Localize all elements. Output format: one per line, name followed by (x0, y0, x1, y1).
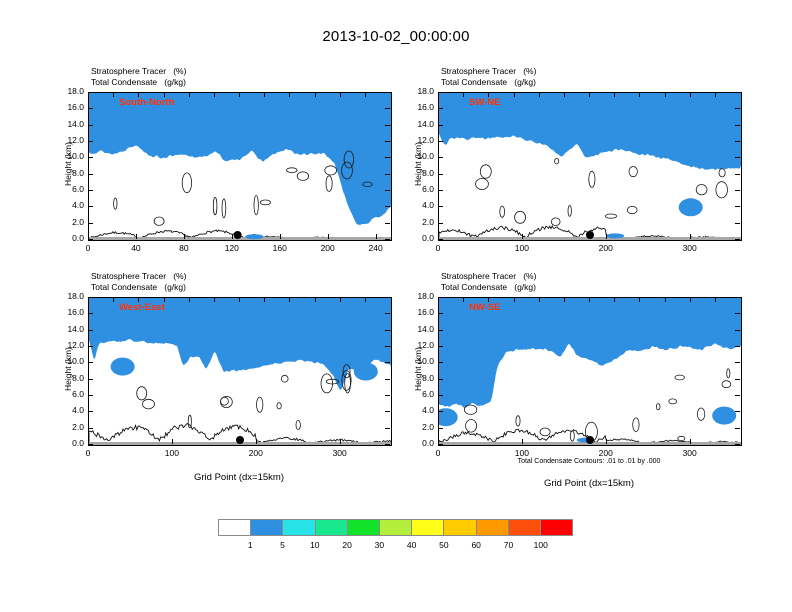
x-tick-label: 0 (68, 448, 108, 458)
y-tick-label: 4.0 (54, 405, 84, 415)
tracer-band (439, 93, 741, 164)
y-tick-label: 10.0 (404, 356, 434, 366)
y-tick-mark (88, 141, 93, 142)
y-tick-mark (438, 346, 443, 347)
y-tick-mark (735, 141, 740, 142)
panel-label-sw-ne: SW-NE (469, 97, 500, 108)
x-tick-mark-top (164, 297, 165, 302)
y-tick-mark (88, 313, 93, 314)
x-tick-mark (172, 439, 173, 444)
tracer-band (89, 298, 391, 378)
tracer-field (439, 298, 741, 445)
x-tick-mark-top (289, 297, 290, 302)
condensate-contour (627, 206, 637, 213)
y-tick-label: 2.0 (54, 422, 84, 432)
condensate-contour (551, 218, 560, 226)
condensate-contour (287, 168, 297, 173)
condensate-contour (182, 173, 191, 193)
x-tick-label: 100 (502, 448, 542, 458)
x-tick-label: 0 (68, 243, 108, 253)
y-tick-label: 16.0 (404, 307, 434, 317)
y-tick-mark (385, 346, 390, 347)
y-tick-mark (88, 395, 93, 396)
cloud-patch (111, 358, 135, 376)
tracer-band (439, 298, 741, 393)
condensate-contour (296, 420, 300, 429)
condensate-contour (605, 214, 616, 218)
condensate-contour (188, 415, 191, 428)
y-tick-mark (735, 346, 740, 347)
y-tick-label: 2.0 (54, 217, 84, 227)
y-tick-label: 10.0 (54, 151, 84, 161)
y-tick-mark (385, 108, 390, 109)
y-tick-label: 8.0 (404, 373, 434, 383)
colorbar-tick-label: 70 (493, 540, 523, 550)
y-tick-mark (438, 362, 443, 363)
x-tick-label: 300 (670, 243, 710, 253)
y-tick-mark (385, 313, 390, 314)
tracer-field (89, 93, 391, 240)
condensate-contour (476, 179, 489, 190)
y-axis-label: Height (km) (63, 319, 73, 419)
center-marker (236, 436, 244, 444)
y-tick-label: 2.0 (404, 422, 434, 432)
y-tick-mark (735, 313, 740, 314)
terrain-profile (439, 226, 741, 240)
x-tick-mark (522, 439, 523, 444)
condensate-contour (326, 379, 338, 384)
tracer-band (89, 93, 391, 215)
x-tick-mark-top (564, 297, 565, 302)
y-tick-mark (385, 206, 390, 207)
panel-header-line2: Total Condensate (g/kg) (91, 282, 186, 293)
condensate-contour (257, 397, 263, 412)
y-tick-mark (438, 190, 443, 191)
condensate-contour (697, 408, 704, 420)
ground-bar (89, 237, 391, 240)
x-tick-mark-top (614, 92, 615, 97)
colorbar-segment (251, 520, 283, 535)
contour-caption: Total Condensate Contours: .01 to .01 by… (438, 458, 740, 465)
tracer-band (89, 298, 391, 369)
colorbar-segment (283, 520, 315, 535)
x-tick-mark-top (488, 92, 489, 97)
condensate-contour (321, 374, 333, 393)
x-tick-mark-top (214, 92, 215, 97)
cloud-patch (679, 198, 703, 216)
tracer-field (439, 93, 741, 240)
x-tick-mark-top (715, 297, 716, 302)
y-tick-label: 6.0 (54, 184, 84, 194)
tracer-field (89, 298, 391, 445)
tracer-band (439, 298, 741, 395)
condensate-contour (297, 172, 308, 181)
condensate-contour (325, 166, 337, 175)
terrain-profile (89, 230, 391, 240)
y-tick-mark (88, 297, 93, 298)
center-marker (586, 231, 594, 239)
colorbar-segment (348, 520, 380, 535)
condensate-contour (633, 418, 639, 432)
condensate-contour (656, 404, 660, 410)
x-tick-mark-top (715, 92, 716, 97)
y-tick-label: 16.0 (404, 102, 434, 112)
panel-header-line2: Total Condensate (g/kg) (441, 282, 536, 293)
panel-header-line1: Stratosphere Tracer (%) (441, 66, 536, 77)
condensate-contour (221, 396, 233, 407)
y-tick-mark (735, 395, 740, 396)
y-tick-mark (438, 428, 443, 429)
y-tick-mark (88, 330, 93, 331)
condensate-contour (515, 211, 526, 223)
x-tick-mark (438, 439, 439, 444)
y-tick-mark (438, 157, 443, 158)
tracer-band (89, 93, 391, 204)
y-tick-mark (385, 239, 390, 240)
x-tick-label: 80 (164, 243, 204, 253)
y-tick-label: 18.0 (54, 86, 84, 96)
y-tick-mark (438, 411, 443, 412)
y-tick-mark (735, 330, 740, 331)
tracer-band (439, 298, 741, 402)
condensate-contour (222, 199, 226, 218)
x-tick-mark-top (189, 297, 190, 302)
tracer-band (439, 93, 741, 155)
tracer-band (89, 298, 391, 388)
y-tick-mark (438, 92, 443, 93)
cloud-patch (712, 407, 736, 425)
x-tick-mark (522, 234, 523, 239)
condensate-contour (342, 162, 353, 179)
condensate-contour (326, 176, 332, 192)
panel-header: Stratosphere Tracer (%)Total Condensate … (441, 66, 536, 87)
condensate-contour (363, 182, 372, 187)
x-tick-mark-top (488, 297, 489, 302)
x-tick-mark-top (514, 92, 515, 97)
x-tick-mark-top (264, 297, 265, 302)
x-tick-mark-top (138, 297, 139, 302)
x-tick-mark (136, 234, 137, 239)
colorbar-segment (541, 520, 572, 535)
y-tick-mark (735, 206, 740, 207)
x-tick-label: 120 (212, 243, 252, 253)
x-tick-mark-top (214, 297, 215, 302)
x-tick-mark (280, 234, 281, 239)
panel-label-south-north: South-North (119, 97, 174, 108)
y-tick-label: 6.0 (404, 389, 434, 399)
x-tick-mark-top (315, 92, 316, 97)
condensate-contour (342, 371, 351, 391)
y-tick-mark (438, 239, 443, 240)
x-axis-label: Grid Point (dx=15km) (88, 472, 390, 483)
x-tick-mark-top (463, 92, 464, 97)
colorbar-tick-label: 30 (364, 540, 394, 550)
x-tick-label: 200 (586, 243, 626, 253)
tracer-band (439, 93, 741, 153)
colorbar-segment (380, 520, 412, 535)
y-tick-label: 14.0 (404, 119, 434, 129)
panel-header-line1: Stratosphere Tracer (%) (91, 271, 186, 282)
condensate-contour (344, 151, 354, 168)
tracer-band (439, 298, 741, 405)
x-tick-mark (438, 234, 439, 239)
y-tick-mark (385, 223, 390, 224)
y-tick-label: 2.0 (404, 217, 434, 227)
x-tick-label: 160 (260, 243, 300, 253)
y-tick-mark (88, 190, 93, 191)
condensate-contour (540, 428, 550, 436)
y-tick-mark (438, 174, 443, 175)
y-tick-mark (438, 379, 443, 380)
y-tick-label: 0.0 (54, 233, 84, 243)
tracer-band (439, 93, 741, 162)
condensate-contour (464, 405, 476, 414)
y-tick-label: 6.0 (54, 389, 84, 399)
y-tick-mark (88, 174, 93, 175)
condensate-contour (555, 158, 559, 164)
x-tick-mark (606, 439, 607, 444)
x-tick-label: 300 (320, 448, 360, 458)
x-tick-mark (184, 234, 185, 239)
condensate-contour (585, 422, 597, 441)
y-tick-mark (88, 428, 93, 429)
terrain-profile (89, 424, 391, 445)
tracer-band (439, 93, 741, 157)
tracer-band (89, 93, 391, 219)
cloud-patch (353, 202, 377, 220)
y-tick-label: 6.0 (404, 184, 434, 194)
condensate-contour (675, 375, 685, 380)
y-tick-mark (735, 108, 740, 109)
y-tick-mark (385, 157, 390, 158)
y-tick-mark (735, 379, 740, 380)
x-tick-mark-top (340, 297, 341, 302)
colorbar-segment (444, 520, 476, 535)
y-tick-mark (438, 395, 443, 396)
colorbar-tick-label: 5 (268, 540, 298, 550)
tracer-band (439, 298, 741, 391)
colorbar-segment (219, 520, 251, 535)
x-tick-mark (690, 439, 691, 444)
y-tick-label: 16.0 (54, 307, 84, 317)
x-tick-mark-top (665, 297, 666, 302)
x-tick-label: 0 (418, 448, 458, 458)
tracer-band (439, 298, 741, 404)
tracer-band (89, 298, 391, 373)
y-tick-mark (385, 92, 390, 93)
tracer-band (439, 93, 741, 160)
y-tick-label: 10.0 (404, 151, 434, 161)
tracer-band (439, 93, 741, 166)
condensate-contour (629, 167, 637, 177)
x-tick-mark (690, 234, 691, 239)
x-tick-mark (606, 234, 607, 239)
x-tick-mark-top (690, 297, 691, 302)
condensate-contour (114, 198, 117, 209)
tracer-band (89, 298, 391, 386)
x-tick-mark (256, 439, 257, 444)
x-tick-label: 200 (236, 448, 276, 458)
y-tick-mark (88, 362, 93, 363)
condensate-contour (500, 206, 505, 217)
condensate-contour (568, 205, 571, 216)
condensate-contour (727, 369, 730, 378)
page-title: 2013-10-02_00:00:00 (0, 28, 792, 45)
y-tick-mark (438, 313, 443, 314)
y-tick-mark (735, 223, 740, 224)
y-tick-mark (735, 239, 740, 240)
tracer-band (89, 93, 391, 223)
y-tick-label: 18.0 (404, 291, 434, 301)
y-tick-mark (385, 362, 390, 363)
colorbar-segment (316, 520, 348, 535)
y-axis-label: Height (km) (413, 319, 423, 419)
center-marker (586, 436, 594, 444)
y-tick-mark (88, 444, 93, 445)
y-tick-mark (88, 157, 93, 158)
y-axis-label: Height (km) (63, 114, 73, 214)
condensate-contour (254, 196, 258, 215)
condensate-contour (345, 373, 351, 393)
y-tick-mark (735, 190, 740, 191)
x-tick-label: 300 (670, 448, 710, 458)
x-tick-mark-top (589, 297, 590, 302)
condensate-contour (343, 365, 350, 378)
y-tick-mark (735, 125, 740, 126)
y-tick-label: 12.0 (404, 340, 434, 350)
y-tick-mark (385, 125, 390, 126)
plot-area: NW-SE (438, 297, 742, 446)
y-tick-label: 8.0 (404, 168, 434, 178)
x-tick-mark-top (589, 92, 590, 97)
y-tick-mark (385, 330, 390, 331)
x-tick-mark-top (639, 297, 640, 302)
y-tick-mark (88, 411, 93, 412)
y-tick-mark (88, 239, 93, 240)
panel-header-line2: Total Condensate (g/kg) (441, 77, 536, 88)
y-tick-mark (88, 108, 93, 109)
y-tick-mark (385, 395, 390, 396)
condensate-contour (143, 399, 155, 409)
x-tick-mark-top (164, 92, 165, 97)
tracer-band (89, 298, 391, 380)
colorbar-segment (412, 520, 444, 535)
y-tick-label: 12.0 (404, 135, 434, 145)
terrain-profile (439, 429, 741, 445)
y-tick-label: 12.0 (54, 340, 84, 350)
tracer-band (439, 298, 741, 400)
panel-label-nw-se: NW-SE (469, 302, 500, 313)
x-tick-mark-top (340, 92, 341, 97)
x-tick-label: 200 (308, 243, 348, 253)
cloud-patch (245, 234, 263, 239)
tracer-band (439, 93, 741, 170)
panel-header: Stratosphere Tracer (%)Total Condensate … (91, 66, 186, 87)
condensate-contour (669, 399, 677, 404)
y-tick-mark (438, 141, 443, 142)
tracer-band (89, 93, 391, 221)
y-tick-mark (438, 330, 443, 331)
y-tick-label: 8.0 (54, 373, 84, 383)
x-tick-mark-top (463, 297, 464, 302)
condensate-contour (260, 200, 270, 205)
tracer-band (89, 93, 391, 225)
panel-header-line2: Total Condensate (g/kg) (91, 77, 186, 88)
x-tick-label: 0 (418, 243, 458, 253)
x-tick-mark-top (365, 92, 366, 97)
y-tick-label: 14.0 (54, 324, 84, 334)
y-tick-mark (88, 379, 93, 380)
y-tick-mark (735, 428, 740, 429)
colorbar-segment (509, 520, 541, 535)
x-tick-mark-top (189, 92, 190, 97)
plot-area: SW-NE (438, 92, 742, 241)
x-tick-mark-top (539, 92, 540, 97)
y-tick-mark (438, 297, 443, 298)
tracer-band (89, 93, 391, 213)
condensate-contour (696, 185, 707, 195)
x-tick-label: 100 (502, 243, 542, 253)
y-tick-label: 0.0 (404, 233, 434, 243)
x-tick-mark-top (315, 297, 316, 302)
colorbar-tick-label: 10 (300, 540, 330, 550)
x-tick-mark-top (690, 92, 691, 97)
y-tick-mark (385, 297, 390, 298)
condensate-contour (154, 217, 164, 225)
y-tick-mark (735, 411, 740, 412)
y-tick-label: 0.0 (404, 438, 434, 448)
x-tick-mark-top (639, 92, 640, 97)
x-tick-mark (88, 439, 89, 444)
x-tick-mark-top (289, 92, 290, 97)
tracer-band (439, 298, 741, 397)
x-tick-mark-top (514, 297, 515, 302)
y-tick-mark (735, 362, 740, 363)
y-tick-mark (385, 379, 390, 380)
x-tick-mark (340, 439, 341, 444)
y-tick-mark (385, 174, 390, 175)
ground-bar (89, 442, 391, 445)
y-tick-mark (735, 444, 740, 445)
x-tick-mark-top (239, 297, 240, 302)
x-tick-mark-top (264, 92, 265, 97)
colorbar-segment (477, 520, 509, 535)
x-tick-mark (376, 234, 377, 239)
x-tick-mark-top (138, 92, 139, 97)
tracer-band (89, 93, 391, 210)
y-tick-label: 12.0 (54, 135, 84, 145)
y-tick-label: 8.0 (54, 168, 84, 178)
panel-header-line1: Stratosphere Tracer (%) (441, 271, 536, 282)
condensate-contour (213, 197, 217, 214)
tracer-band (89, 93, 391, 208)
tracer-band (439, 298, 741, 408)
y-tick-mark (88, 125, 93, 126)
tracer-band (439, 298, 741, 387)
panel-header-line1: Stratosphere Tracer (%) (91, 66, 186, 77)
y-tick-mark (385, 411, 390, 412)
x-tick-mark-top (539, 297, 540, 302)
y-tick-mark (735, 174, 740, 175)
y-tick-mark (735, 92, 740, 93)
y-tick-label: 10.0 (54, 356, 84, 366)
y-tick-mark (385, 428, 390, 429)
condensate-contour (221, 397, 229, 405)
condensate-contour (722, 381, 731, 388)
condensate-contour (570, 431, 574, 441)
condensate-contour (137, 387, 147, 400)
condensate-contour (466, 420, 477, 433)
